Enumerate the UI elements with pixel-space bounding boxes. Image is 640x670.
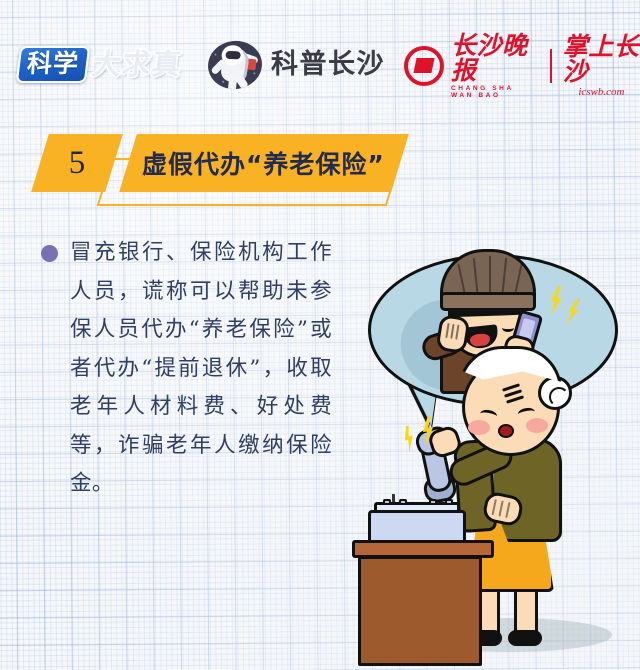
banner-title: 虚假代办“养老保险” (128, 134, 400, 192)
logo-kepu-text: 科普长沙 (271, 51, 385, 79)
scammer-hat-brim (440, 292, 536, 311)
scammer-cheek (502, 324, 514, 332)
victim-hair-bun (538, 376, 572, 410)
bullet-point-icon (41, 245, 58, 262)
app-name-zh: 掌上长沙 (563, 34, 640, 84)
science-badge-icon: 科学 (16, 46, 91, 83)
header-logo-bar: 科学 大求真 科普长沙 长沙晚报 (0, 34, 640, 96)
logo-science-box-text: 科学 (26, 51, 80, 77)
banner-number: 5 (40, 134, 114, 192)
logo-science-quest[interactable]: 科学 大求真 (18, 38, 182, 90)
newspaper-mark-icon (404, 46, 444, 86)
poster-canvas: 科学 大求真 科普长沙 长沙晚报 (0, 0, 640, 670)
astronaut-icon (205, 37, 265, 92)
logo-science-suffix-text: 大求真 (90, 49, 184, 79)
victim-shoe (508, 630, 542, 646)
body-paragraph: 冒充银行、保险机构工作人员，谎称可以帮助未参保人员代办“养老保险”或者代办“提前… (70, 234, 332, 504)
victim-mouth (498, 424, 514, 438)
logo-kepu-changsha[interactable]: 科普长沙 (208, 36, 385, 94)
section-banner: 5 虚假代办“养老保险” (0, 128, 640, 224)
newspaper-name-pinyin: CHANG SHA WAN BAO (451, 86, 539, 99)
logo-changsha-evening-news[interactable]: 长沙晚报 CHANG SHA WAN BAO 掌上长沙 icswb.com (404, 38, 640, 94)
logo-divider (550, 49, 552, 83)
scam-illustration (352, 242, 640, 670)
app-website-url[interactable]: icswb.com (578, 87, 624, 98)
newspaper-name-zh: 长沙晚报 (451, 33, 539, 83)
victim-cheek-blush (526, 418, 548, 433)
victim-cheek-blush (468, 420, 490, 435)
table-body (358, 556, 482, 666)
victim-forehead-lines (502, 386, 528, 398)
telephone-base (368, 510, 466, 544)
